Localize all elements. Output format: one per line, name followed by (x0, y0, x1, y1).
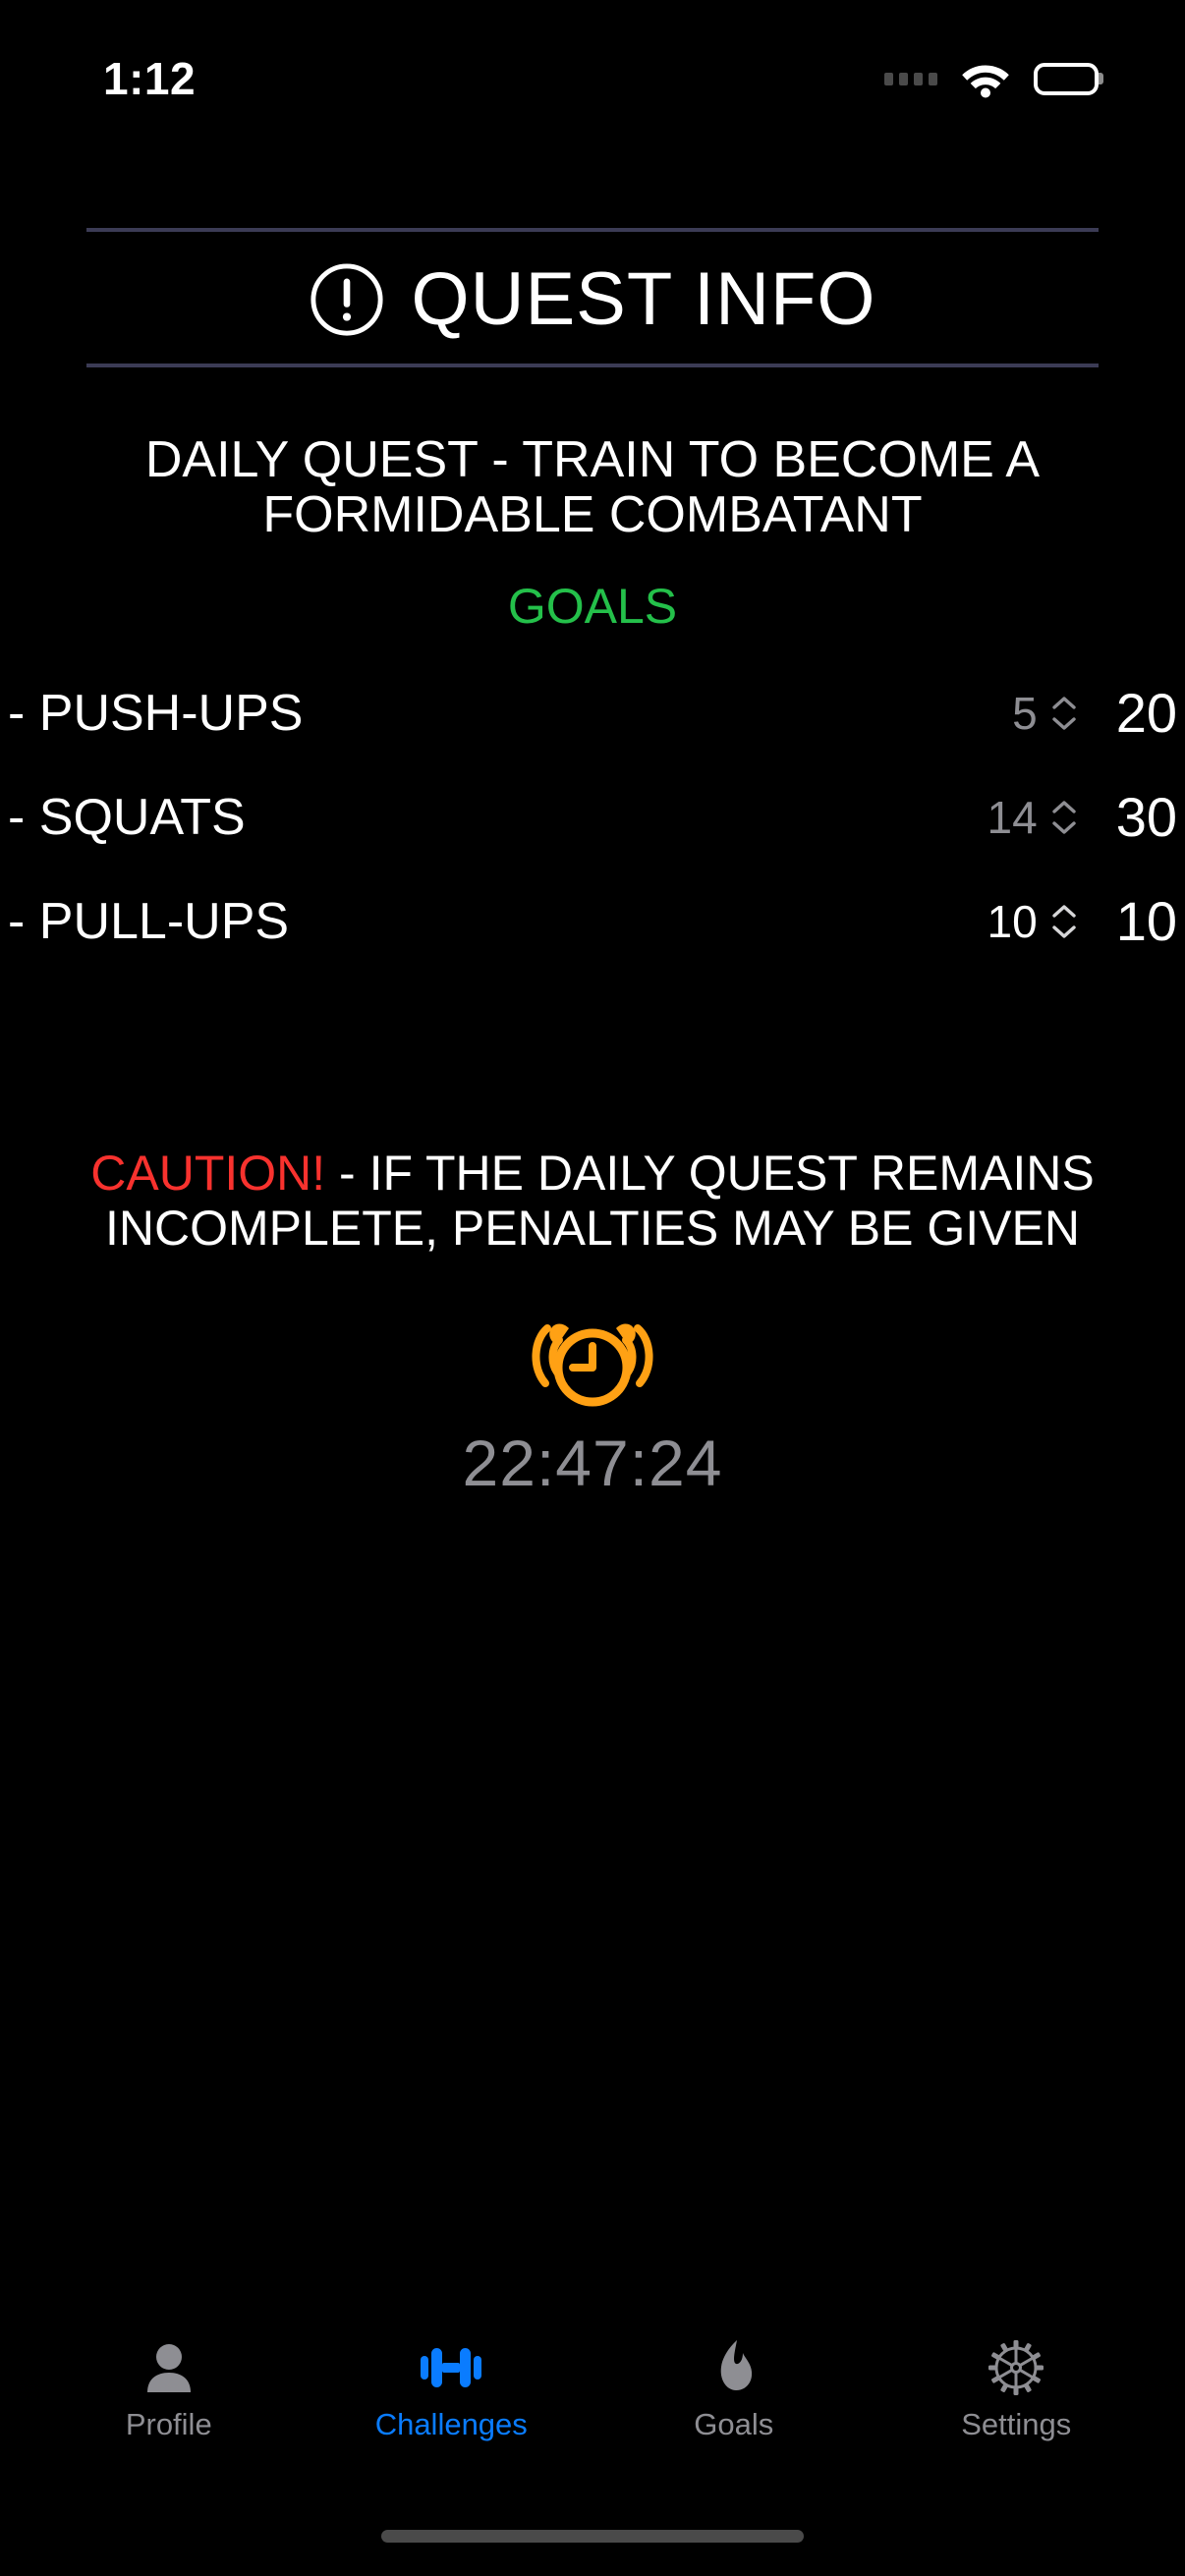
goal-name: - PUSH-UPS (8, 684, 1012, 743)
tab-profile[interactable]: Profile (28, 2340, 310, 2439)
wifi-icon (959, 59, 1012, 98)
goal-name: - PULL-UPS (8, 892, 987, 951)
page-title-label: QUEST INFO (411, 262, 875, 337)
alarm-icon-wrap (8, 1303, 1177, 1409)
exclamation-circle-icon (309, 261, 385, 338)
quantity-stepper[interactable]: 5 (1012, 691, 1077, 736)
bottom-tab-bar: Profile Challenges Goals (0, 2319, 1185, 2495)
chevron-up-icon[interactable] (1051, 696, 1077, 710)
goal-current-value: 5 (1012, 691, 1038, 736)
tab-goals[interactable]: Goals (592, 2340, 875, 2439)
tab-challenges[interactable]: Challenges (310, 2340, 593, 2439)
goal-target-value: 20 (1116, 686, 1177, 741)
gear-icon (988, 2340, 1044, 2395)
app-screen: 1:12 QUEST INFO DAILY QUEST - TRAIN (0, 0, 1185, 2576)
goals-list: - PUSH-UPS 5 20 (8, 676, 1177, 959)
status-bar-time: 1:12 (103, 56, 196, 101)
goal-target-value: 10 (1116, 894, 1177, 949)
tab-label: Settings (961, 2409, 1071, 2439)
home-indicator[interactable] (0, 2495, 1185, 2576)
stepper-chevrons[interactable] (1051, 800, 1077, 835)
person-icon (143, 2340, 195, 2395)
goal-row-push-ups[interactable]: - PUSH-UPS 5 20 (8, 676, 1177, 751)
flame-icon (710, 2340, 758, 2395)
stepper-chevrons[interactable] (1051, 904, 1077, 939)
goals-heading: GOALS (8, 582, 1177, 631)
goal-name: - SQUATS (8, 788, 987, 847)
stepper-chevrons[interactable] (1051, 696, 1077, 731)
goal-row-pull-ups[interactable]: - PULL-UPS 10 10 (8, 884, 1177, 959)
signal-dots-icon (884, 73, 937, 85)
dumbbell-icon (421, 2340, 481, 2395)
chevron-up-icon[interactable] (1051, 800, 1077, 814)
tab-label: Challenges (375, 2409, 528, 2439)
quest-description: DAILY QUEST - TRAIN TO BECOME A FORMIDAB… (8, 432, 1177, 542)
tab-label: Profile (126, 2409, 212, 2439)
caution-keyword: CAUTION! (90, 1146, 325, 1201)
tab-settings[interactable]: Settings (875, 2340, 1158, 2439)
goal-values: 5 20 (1012, 686, 1177, 741)
status-bar: 1:12 (0, 0, 1185, 147)
goal-values: 14 30 (987, 790, 1177, 845)
chevron-up-icon[interactable] (1051, 904, 1077, 919)
quantity-stepper[interactable]: 10 (987, 899, 1077, 944)
battery-full-icon (1034, 63, 1099, 95)
chevron-down-icon[interactable] (1051, 716, 1077, 731)
tab-label: Goals (694, 2409, 773, 2439)
page-title: QUEST INFO (0, 232, 1185, 364)
goal-values: 10 10 (987, 894, 1177, 949)
home-indicator-bar[interactable] (381, 2530, 804, 2543)
status-bar-indicators (884, 59, 1099, 98)
quantity-stepper[interactable]: 14 (987, 795, 1077, 840)
alarm-clock-ringing-icon (504, 1303, 681, 1409)
caution-message: CAUTION! - IF THE DAILY QUEST REMAINS IN… (8, 1146, 1177, 1256)
chevron-down-icon[interactable] (1051, 820, 1077, 835)
chevron-down-icon[interactable] (1051, 924, 1077, 939)
goal-row-squats[interactable]: - SQUATS 14 30 (8, 780, 1177, 855)
countdown-timer: 22:47:24 (8, 1430, 1177, 1495)
goal-current-value: 14 (987, 795, 1038, 840)
quest-content: DAILY QUEST - TRAIN TO BECOME A FORMIDAB… (0, 367, 1185, 2319)
goal-current-value: 10 (987, 899, 1038, 944)
goal-target-value: 30 (1116, 790, 1177, 845)
